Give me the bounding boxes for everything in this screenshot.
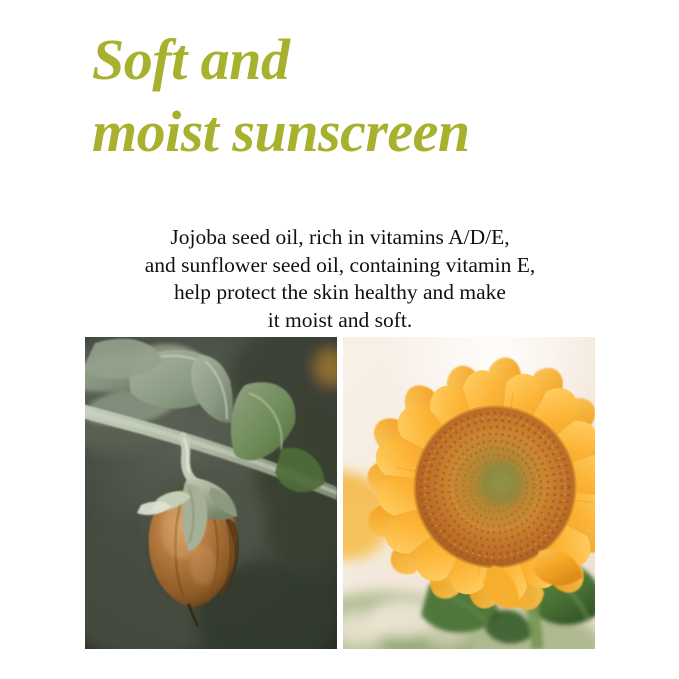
- photo-row: [85, 337, 595, 649]
- description-line-1: Jojoba seed oil, rich in vitamins A/D/E,: [70, 224, 610, 252]
- description-line-3: help protect the skin healthy and make: [70, 279, 610, 307]
- sunflower-photo: [343, 337, 595, 649]
- description-text: Jojoba seed oil, rich in vitamins A/D/E,…: [70, 224, 610, 334]
- sunflower-photo-graphic: [343, 337, 595, 649]
- page-title: Soft and moist sunscreen: [92, 24, 632, 168]
- jojoba-photo-graphic: [85, 337, 337, 649]
- page-title-line-1: Soft and: [92, 24, 632, 96]
- poster-canvas: Soft and moist sunscreen Jojoba seed oil…: [0, 0, 679, 679]
- description-line-4: it moist and soft.: [70, 307, 610, 335]
- page-title-line-2: moist sunscreen: [92, 96, 632, 168]
- description-line-2: and sunflower seed oil, containing vitam…: [70, 252, 610, 280]
- jojoba-photo: [85, 337, 337, 649]
